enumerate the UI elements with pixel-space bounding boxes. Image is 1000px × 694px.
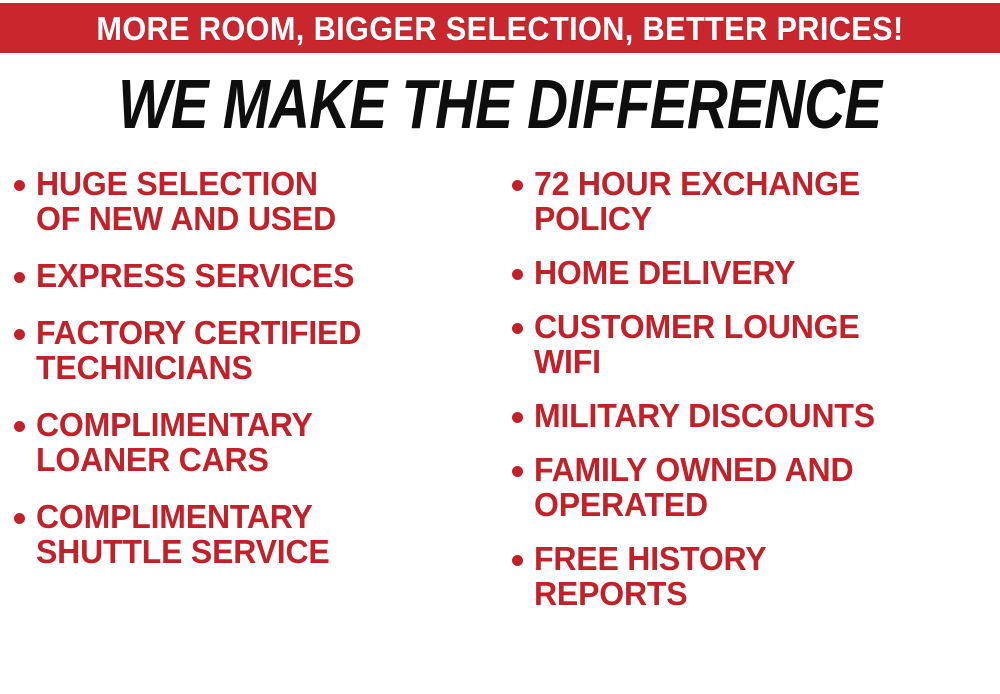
list-item: HOME DELIVERY xyxy=(512,255,1000,290)
list-item: MILITARY DISCOUNTS xyxy=(512,398,1000,433)
promo-poster: MORE ROOM, BIGGER SELECTION, BETTER PRIC… xyxy=(0,0,1000,694)
bullet-dot-icon xyxy=(14,180,25,191)
list-item: FAMILY OWNED AND OPERATED xyxy=(512,452,1000,522)
bullet-dot-icon xyxy=(14,421,25,432)
bullet-dot-icon xyxy=(512,466,523,477)
top-banner: MORE ROOM, BIGGER SELECTION, BETTER PRIC… xyxy=(0,3,1000,53)
list-item-label: FACTORY CERTIFIED TECHNICIANS xyxy=(36,315,361,385)
list-item-label: FAMILY OWNED AND OPERATED xyxy=(534,452,853,522)
list-item: EXPRESS SERVICES xyxy=(14,258,500,293)
list-item: COMPLIMENTARY LOANER CARS xyxy=(14,407,500,477)
list-item-label: MILITARY DISCOUNTS xyxy=(534,398,875,433)
bullet-dot-icon xyxy=(512,323,523,334)
list-item: CUSTOMER LOUNGE WIFI xyxy=(512,309,1000,379)
list-item-label: COMPLIMENTARY LOANER CARS xyxy=(36,407,313,477)
list-item: HUGE SELECTION OF NEW AND USED xyxy=(14,166,500,236)
list-item-label: FREE HISTORY REPORTS xyxy=(534,541,766,611)
list-item-label: CUSTOMER LOUNGE WIFI xyxy=(534,309,860,379)
list-item-label: EXPRESS SERVICES xyxy=(36,258,354,293)
benefits-column-left: HUGE SELECTION OF NEW AND USED EXPRESS S… xyxy=(0,158,500,694)
list-item-label: COMPLIMENTARY SHUTTLE SERVICE xyxy=(36,499,330,569)
bullet-dot-icon xyxy=(14,329,25,340)
banner-headline-text: MORE ROOM, BIGGER SELECTION, BETTER PRIC… xyxy=(96,12,903,45)
list-item: 72 HOUR EXCHANGE POLICY xyxy=(512,166,1000,236)
benefits-columns: HUGE SELECTION OF NEW AND USED EXPRESS S… xyxy=(0,158,1000,694)
bullet-dot-icon xyxy=(14,272,25,283)
list-item: COMPLIMENTARY SHUTTLE SERVICE xyxy=(14,499,500,569)
list-item-label: HOME DELIVERY xyxy=(534,255,795,290)
bullet-dot-icon xyxy=(512,412,523,423)
headline-container: WE MAKE THE DIFFERENCE xyxy=(0,68,1000,140)
list-item-label: HUGE SELECTION OF NEW AND USED xyxy=(36,166,336,236)
list-item: FREE HISTORY REPORTS xyxy=(512,541,1000,611)
bullet-dot-icon xyxy=(14,513,25,524)
benefits-column-right: 72 HOUR EXCHANGE POLICY HOME DELIVERY CU… xyxy=(500,158,1000,694)
list-item: FACTORY CERTIFIED TECHNICIANS xyxy=(14,315,500,385)
page-title: WE MAKE THE DIFFERENCE xyxy=(118,69,881,138)
bullet-dot-icon xyxy=(512,180,523,191)
list-item-label: 72 HOUR EXCHANGE POLICY xyxy=(534,166,860,236)
bullet-dot-icon xyxy=(512,555,523,566)
bullet-dot-icon xyxy=(512,269,523,280)
